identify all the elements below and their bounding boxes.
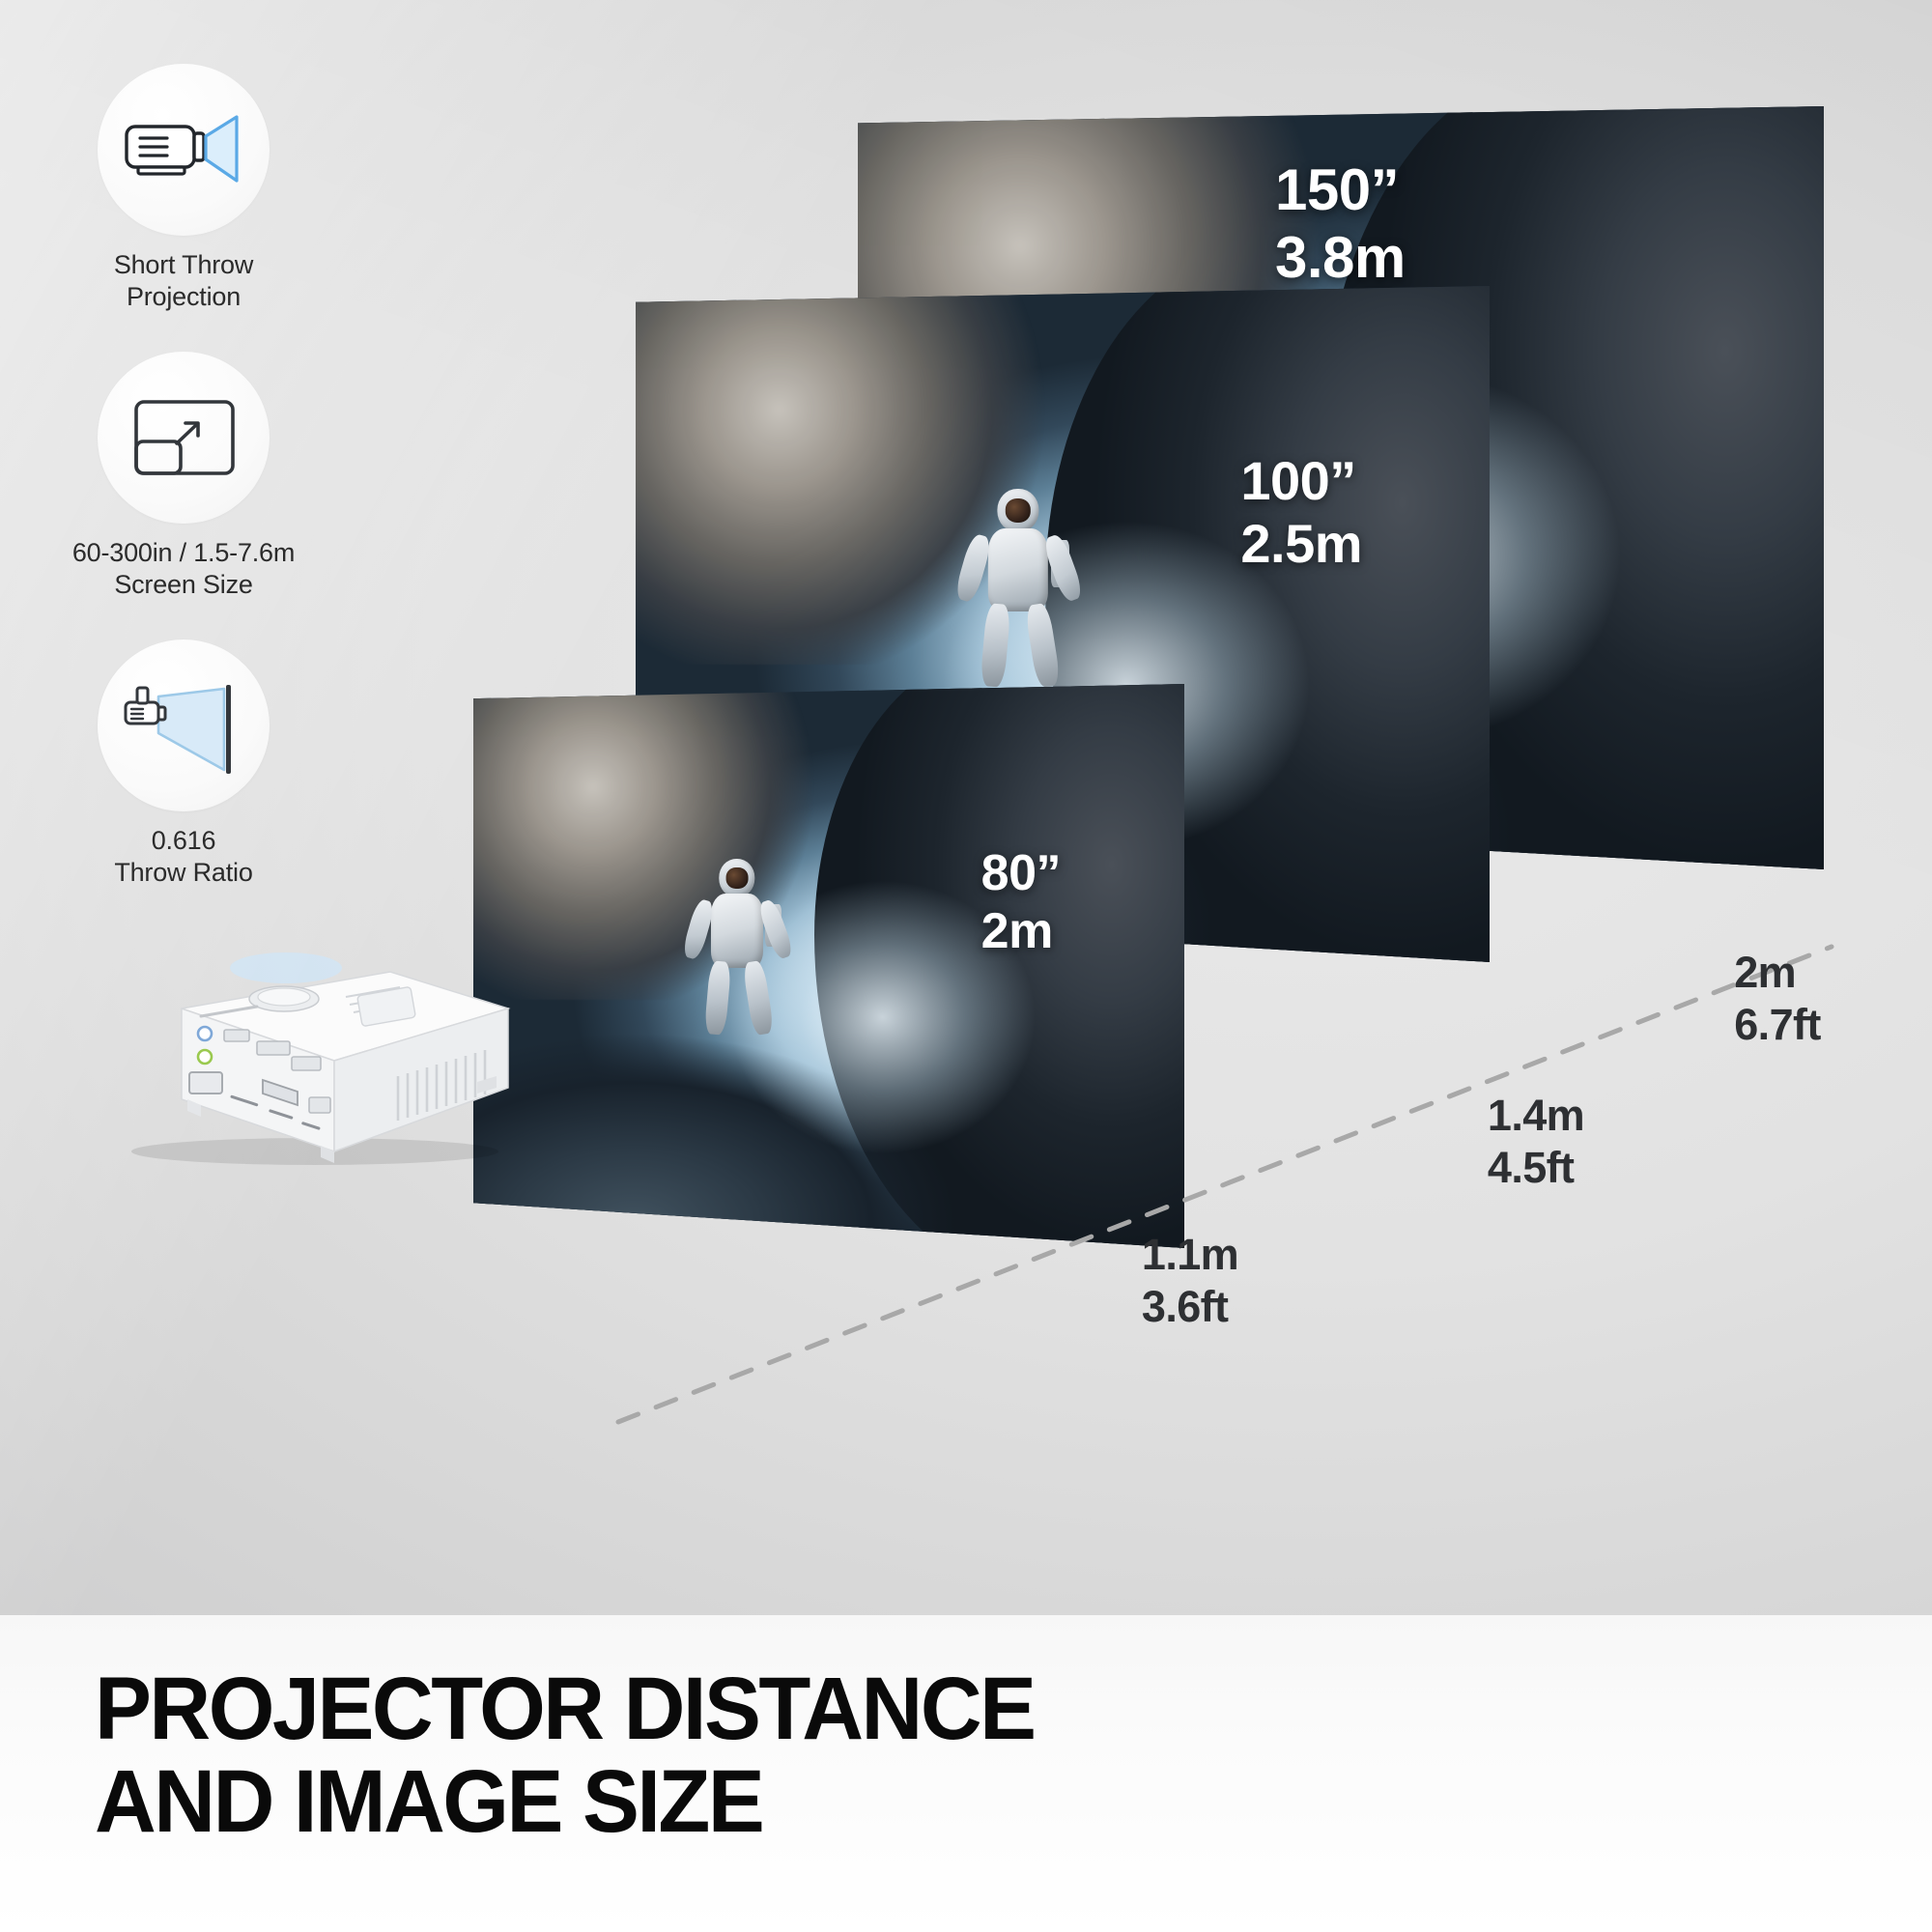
distance-label-100: 1.4m 4.5ft — [1488, 1090, 1584, 1194]
port-hdmi-1 — [224, 1030, 249, 1041]
infographic-stage: Short Throw Projection 60-300in / 1.5-7.… — [0, 0, 1932, 1932]
page-title: PROJECTOR DISTANCE AND IMAGE SIZE — [95, 1663, 1035, 1848]
port-lan — [309, 1097, 330, 1113]
beam-glow — [230, 952, 342, 983]
projector-device — [93, 945, 527, 1167]
port-hdmi-2 — [292, 1057, 321, 1070]
port-power-inlet — [189, 1072, 222, 1094]
port-usb — [257, 1041, 290, 1055]
port-audio-out — [198, 1050, 212, 1064]
distance-label-80: 1.1m 3.6ft — [1142, 1229, 1238, 1333]
distance-label-150: 2m 6.7ft — [1734, 947, 1821, 1051]
throw-distance-guide-line — [0, 0, 1932, 1615]
port-audio-in — [198, 1027, 212, 1040]
